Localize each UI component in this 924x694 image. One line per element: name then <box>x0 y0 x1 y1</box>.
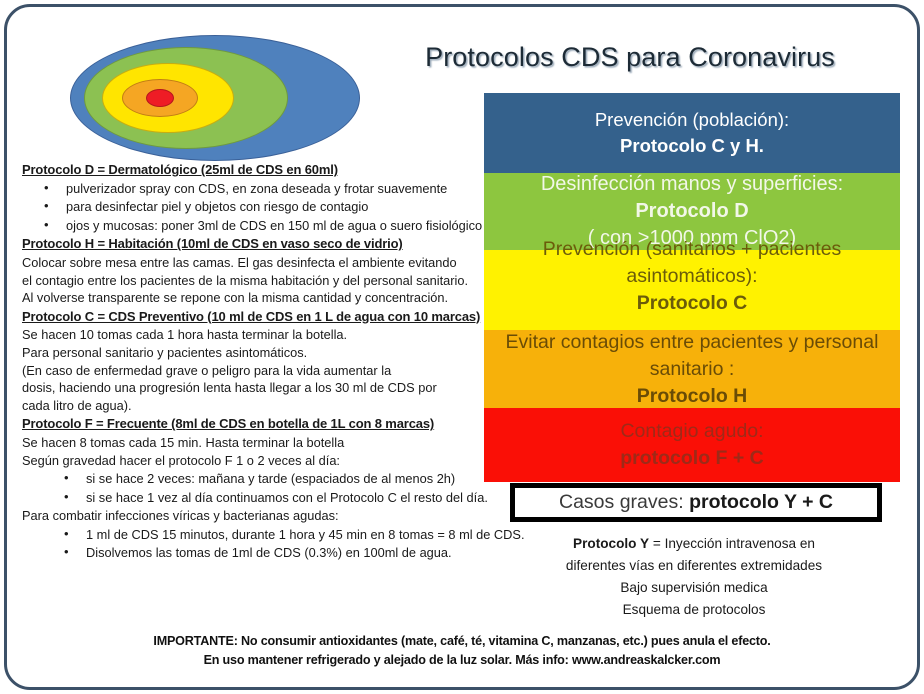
protocolo-d-heading: Protocolo D = Dermatológico (25ml de CDS… <box>22 161 490 179</box>
protocolo-c-line: Se hacen 10 tomas cada 1 hora hasta term… <box>22 326 490 344</box>
bar-text-bold: Protocolo C <box>637 292 748 314</box>
page-title: Protocolos CDS para Coronavirus <box>380 42 880 73</box>
list-item: pulverizador spray con CDS, en zona dese… <box>44 180 490 198</box>
bar-text-bold: Protocolo C y H. <box>620 135 764 156</box>
protocolo-c-line: dosis, haciendo una progresión lenta has… <box>22 379 490 397</box>
protocol-text-column: Protocolo D = Dermatológico (25ml de CDS… <box>22 160 490 563</box>
concentric-ellipses-diagram <box>62 33 362 163</box>
protocolo-h-line: Al volverse transparente se repone con l… <box>22 289 490 307</box>
bar-contagio-agudo: Contagio agudo: protocolo F + C <box>484 408 900 482</box>
footer-line-2: En uso mantener refrigerado y alejado de… <box>40 651 884 670</box>
bar-text-plain: Evitar contagios entre pacientes y perso… <box>496 329 888 383</box>
bar-evitar-contagios: Evitar contagios entre pacientes y perso… <box>484 330 900 408</box>
bar-text-bold: Protocolo D <box>635 200 748 222</box>
list-item: Disolvemos las tomas de 1ml de CDS (0.3%… <box>64 544 490 562</box>
protocolo-f-heading: Protocolo F = Frecuente (8ml de CDS en b… <box>22 415 490 433</box>
protocolo-y-desc: = Inyección intravenosa en <box>649 536 815 551</box>
protocolo-d-bullets: pulverizador spray con CDS, en zona dese… <box>22 180 490 235</box>
protocolo-f-line: Según gravedad hacer el protocolo F 1 o … <box>22 452 490 470</box>
bar-text-bold: protocolo F + C <box>620 447 764 469</box>
protocolo-y-note: Protocolo Y = Inyección intravenosa en d… <box>494 533 894 621</box>
protocolo-h-line: Colocar sobre mesa entre las camas. El g… <box>22 254 490 272</box>
footer-line-1: IMPORTANTE: No consumir antioxidantes (m… <box>40 632 884 651</box>
bar-prevencion-sanitarios: Prevención (sanitarios + pacientes asint… <box>484 250 900 330</box>
bar-text-plain: Prevención (población): <box>496 107 888 133</box>
protocolo-f-line: Para combatir infecciones víricas y bact… <box>22 507 490 525</box>
list-item: si se hace 1 vez al día continuamos con … <box>64 489 490 507</box>
bar-text-bold: Protocolo H <box>637 385 748 407</box>
protocolo-y-label: Protocolo Y <box>573 536 649 551</box>
protocolo-c-heading: Protocolo C = CDS Preventivo (10 ml de C… <box>22 308 490 326</box>
casos-graves-bold: protocolo Y + C <box>689 491 833 513</box>
bar-text-plain: Contagio agudo: <box>496 418 888 445</box>
casos-graves-plain: Casos graves: <box>559 491 689 513</box>
bar-text-plain: Prevención (sanitarios + pacientes asint… <box>496 236 888 290</box>
casos-graves-box: Casos graves: protocolo Y + C <box>510 483 882 522</box>
footer-warning: IMPORTANTE: No consumir antioxidantes (m… <box>40 632 884 670</box>
protocolo-y-line-4: Esquema de protocolos <box>494 599 894 621</box>
protocolo-y-line-2: diferentes vías en diferentes extremidad… <box>494 555 894 577</box>
protocolo-y-line-3: Bajo supervisión medica <box>494 577 894 599</box>
bar-prevencion-poblacion: Prevención (población): Protocolo C y H. <box>484 93 900 173</box>
red-core-shape <box>146 89 174 107</box>
bar-text-plain: Desinfección manos y superficies: <box>496 171 888 198</box>
list-item: 1 ml de CDS 15 minutos, durante 1 hora y… <box>64 526 490 544</box>
protocolo-f-bullets: si se hace 2 veces: mañana y tarde (espa… <box>22 470 490 506</box>
protocolo-c-line: (En caso de enfermedad grave o peligro p… <box>22 362 490 380</box>
protocolo-y-line-1: Protocolo Y = Inyección intravenosa en <box>494 533 894 555</box>
list-item: para desinfectar piel y objetos con ries… <box>44 198 490 216</box>
list-item: ojos y mucosas: poner 3ml de CDS en 150 … <box>44 217 490 235</box>
list-item: si se hace 2 veces: mañana y tarde (espa… <box>64 470 490 488</box>
infographic-page: Protocolos CDS para Coronavirus Protocol… <box>0 0 924 694</box>
protocolo-c-line: Para personal sanitario y pacientes asin… <box>22 344 490 362</box>
protocolo-h-line: el contagio entre los pacientes de la mi… <box>22 272 490 290</box>
protocolo-c-line: cada litro de agua). <box>22 397 490 415</box>
protocolo-f-bullets-2: 1 ml de CDS 15 minutos, durante 1 hora y… <box>22 526 490 562</box>
protocolo-h-heading: Protocolo H = Habitación (10ml de CDS en… <box>22 235 490 253</box>
protocolo-f-line: Se hacen 8 tomas cada 15 min. Hasta term… <box>22 434 490 452</box>
